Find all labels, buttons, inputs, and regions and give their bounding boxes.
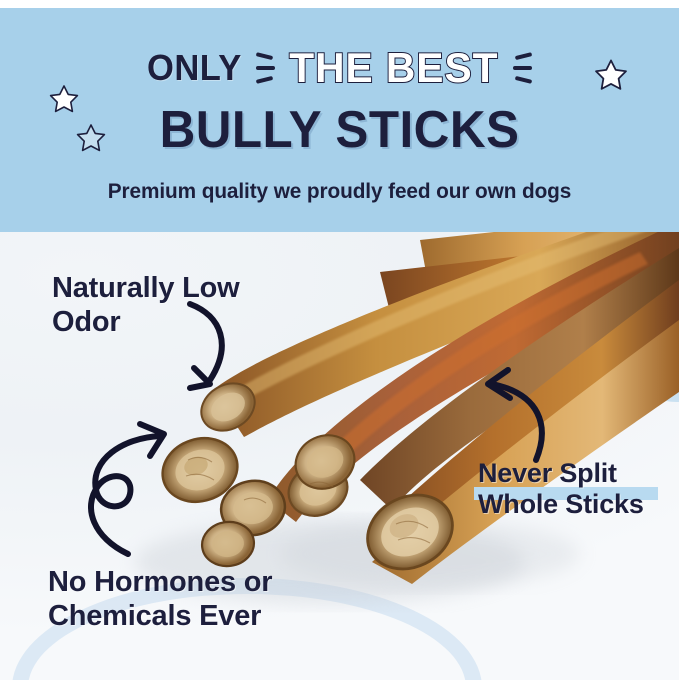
headline-the-best: THE BEST: [289, 44, 498, 92]
annotation-split-line1: Never Split: [478, 458, 678, 489]
annotation-naturally-low-odor: Naturally Low Odor: [52, 272, 312, 339]
header-subtitle: Premium quality we proudly feed our own …: [3, 180, 675, 204]
annotation-split-line2: Whole Sticks: [478, 489, 678, 520]
annotation-no-hormones: No Hormones or Chemicals Ever: [48, 566, 348, 633]
header-content: ONLY THE BEST: [0, 8, 679, 240]
burst-right-icon: [512, 47, 534, 89]
burst-left-icon: [254, 47, 276, 89]
annotation-hormones-line2: Chemicals Ever: [48, 600, 348, 634]
annotation-odor-line1: Naturally Low: [52, 272, 312, 306]
annotation-never-split: Never Split Whole Sticks: [478, 458, 678, 521]
headline-line-1: ONLY THE BEST: [0, 44, 679, 92]
promo-poster: ONLY THE BEST: [0, 0, 679, 680]
annotation-hormones-line1: No Hormones or: [48, 566, 348, 600]
arrow-never-split-icon: [468, 360, 578, 470]
headline-line-2: BULLY STICKS: [17, 100, 662, 160]
annotation-odor-line2: Odor: [52, 306, 312, 340]
header-banner: ONLY THE BEST: [0, 8, 679, 240]
arrow-no-hormones-icon: [76, 412, 196, 562]
headline-only: ONLY: [147, 47, 242, 89]
